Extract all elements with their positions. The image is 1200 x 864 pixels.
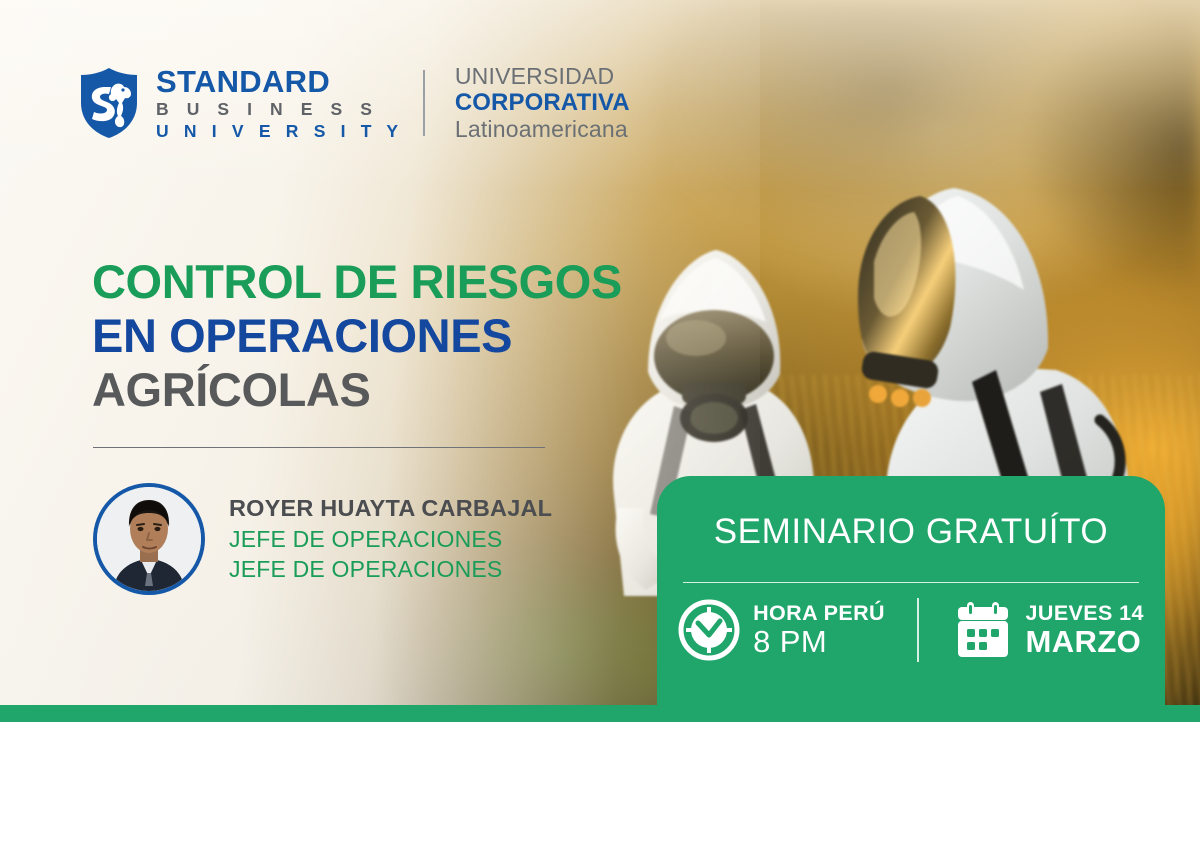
title-line-1: CONTROL DE RIESGOS (92, 258, 652, 306)
avatar (93, 483, 205, 595)
university-logo: STANDARD B U S I N E S S U N I V E R S I… (78, 64, 630, 142)
footer: IDIAT Instituto de desarrollo e investig… (0, 722, 1200, 864)
seminar-divider (683, 582, 1139, 583)
title-line-2: EN OPERACIONES (92, 312, 652, 360)
seminar-title: SEMINARIO GRATUÍTO (657, 512, 1165, 552)
title-line-3: AGRÍCOLAS (92, 366, 652, 414)
speaker-portrait-icon (97, 487, 201, 591)
clock-icon (678, 599, 740, 661)
logo-university-text: U N I V E R S I T Y (156, 123, 403, 141)
seminar-date-block: JUEVES 14 MARZO (919, 600, 1144, 660)
logo-corporativa-text: CORPORATIVA (455, 90, 630, 117)
logo-divider (423, 70, 425, 136)
time-value: 8 PM (753, 625, 885, 660)
event-title: CONTROL DE RIESGOS EN OPERACIONES AGRÍCO… (92, 258, 652, 420)
speaker-role-1: JEFE DE OPERACIONES (229, 524, 552, 554)
green-separator-bar (0, 705, 1200, 722)
speaker-block: ROYER HUAYTA CARBAJAL JEFE DE OPERACIONE… (93, 483, 552, 595)
logo-universidad-text: UNIVERSIDAD (455, 64, 630, 90)
speaker-name: ROYER HUAYTA CARBAJAL (229, 493, 552, 524)
logo-standard-text: STANDARD (156, 66, 403, 97)
date-value: MARZO (1026, 625, 1144, 660)
seminar-panel: SEMINARIO GRATUÍTO HORA PERÚ 8 PM (657, 476, 1165, 705)
seminar-promo-banner: STANDARD B U S I N E S S U N I V E R S I… (0, 0, 1200, 864)
date-label: JUEVES 14 (1026, 601, 1144, 625)
time-label: HORA PERÚ (753, 601, 885, 625)
speaker-role-2: JEFE DE OPERACIONES (229, 554, 552, 584)
calendar-icon (953, 600, 1013, 660)
seminar-time-block: HORA PERÚ 8 PM (678, 599, 917, 661)
title-speaker-divider (93, 447, 545, 448)
logo-business-text: B U S I N E S S (156, 101, 403, 119)
logo-latinoamericana-text: Latinoamericana (455, 117, 630, 143)
shield-lion-icon (78, 67, 140, 139)
